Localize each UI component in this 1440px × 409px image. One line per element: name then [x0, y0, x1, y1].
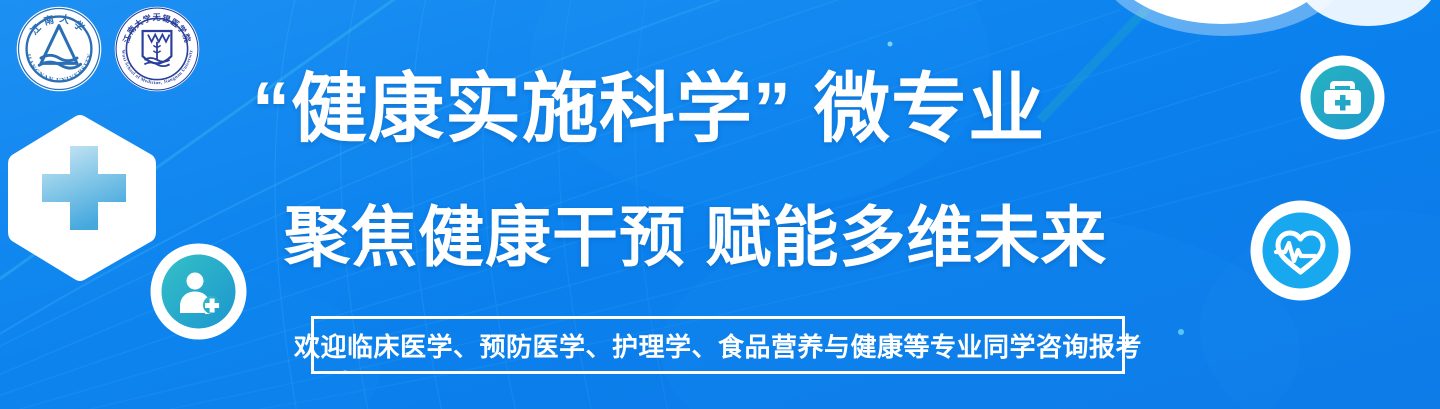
notice-text: 欢迎临床医学、预防医学、护理学、食品营养与健康等专业同学咨询报考 [294, 327, 1142, 364]
hexagon-cross-icon [8, 112, 160, 284]
jiangnan-university-logo: 江南大学 JIANGNAN UNIVERSITY [14, 4, 104, 94]
logo-group: 江南大学 JIANGNAN UNIVERSITY 江南大学无锡医学院 [14, 4, 202, 94]
wuxi-school-of-medicine-logo: 江南大学无锡医学院 Wuxi School of Medicine, Jiang… [112, 4, 202, 94]
medical-kit-icon [1300, 55, 1385, 140]
notice-box: 欢迎临床医学、预防医学、护理学、食品营养与健康等专业同学咨询报考 [311, 316, 1125, 374]
doctor-icon [150, 243, 247, 340]
promo-banner: 江南大学 JIANGNAN UNIVERSITY 江南大学无锡医学院 [0, 0, 1440, 409]
banner-subtitle: 聚焦健康干预 赋能多维未来 [284, 196, 1184, 278]
banner-main-title: “健康实施科学” 微专业 [252, 58, 1192, 162]
heart-pulse-icon [1250, 200, 1351, 301]
